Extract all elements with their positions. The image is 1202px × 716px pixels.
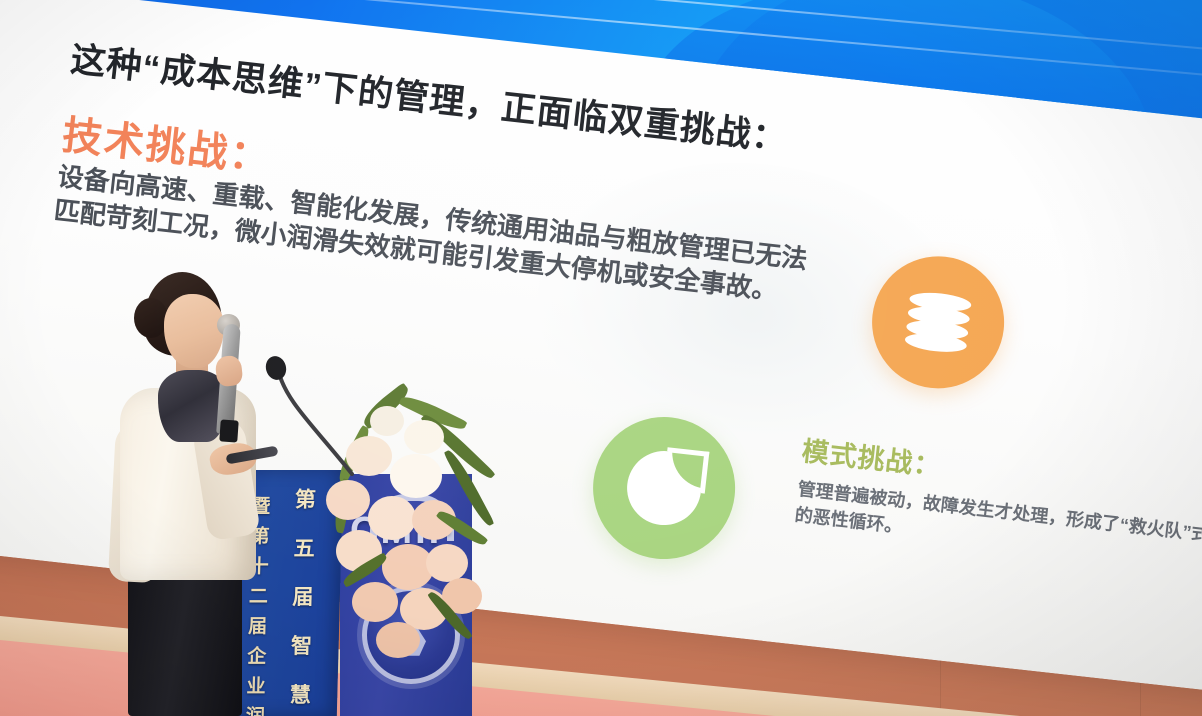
- mode-challenge-heading: 模式挑战：: [800, 429, 943, 483]
- handheld-microphone-base: [219, 419, 238, 442]
- presenter-trousers: [128, 572, 242, 716]
- presenter-hair-bun: [134, 298, 168, 338]
- mode-challenge-body: 管理普遍被动，故障发生才处理，形成了“救火队”式的恶性循环。: [793, 476, 1202, 575]
- pie-chart-glyph: [623, 447, 705, 529]
- database-glyph: [904, 290, 972, 355]
- podium-text-main: 第 五 届 智 慧 润: [282, 488, 319, 716]
- presenter-face: [164, 294, 224, 368]
- presenter: [104, 272, 280, 716]
- screenshot-root: 挑战 昆仑润 这种“成本思维”下的管理，正面临双重挑战： 技术挑战： 设备向高速…: [0, 0, 1202, 716]
- presenter-hand-holding-mic: [215, 355, 244, 388]
